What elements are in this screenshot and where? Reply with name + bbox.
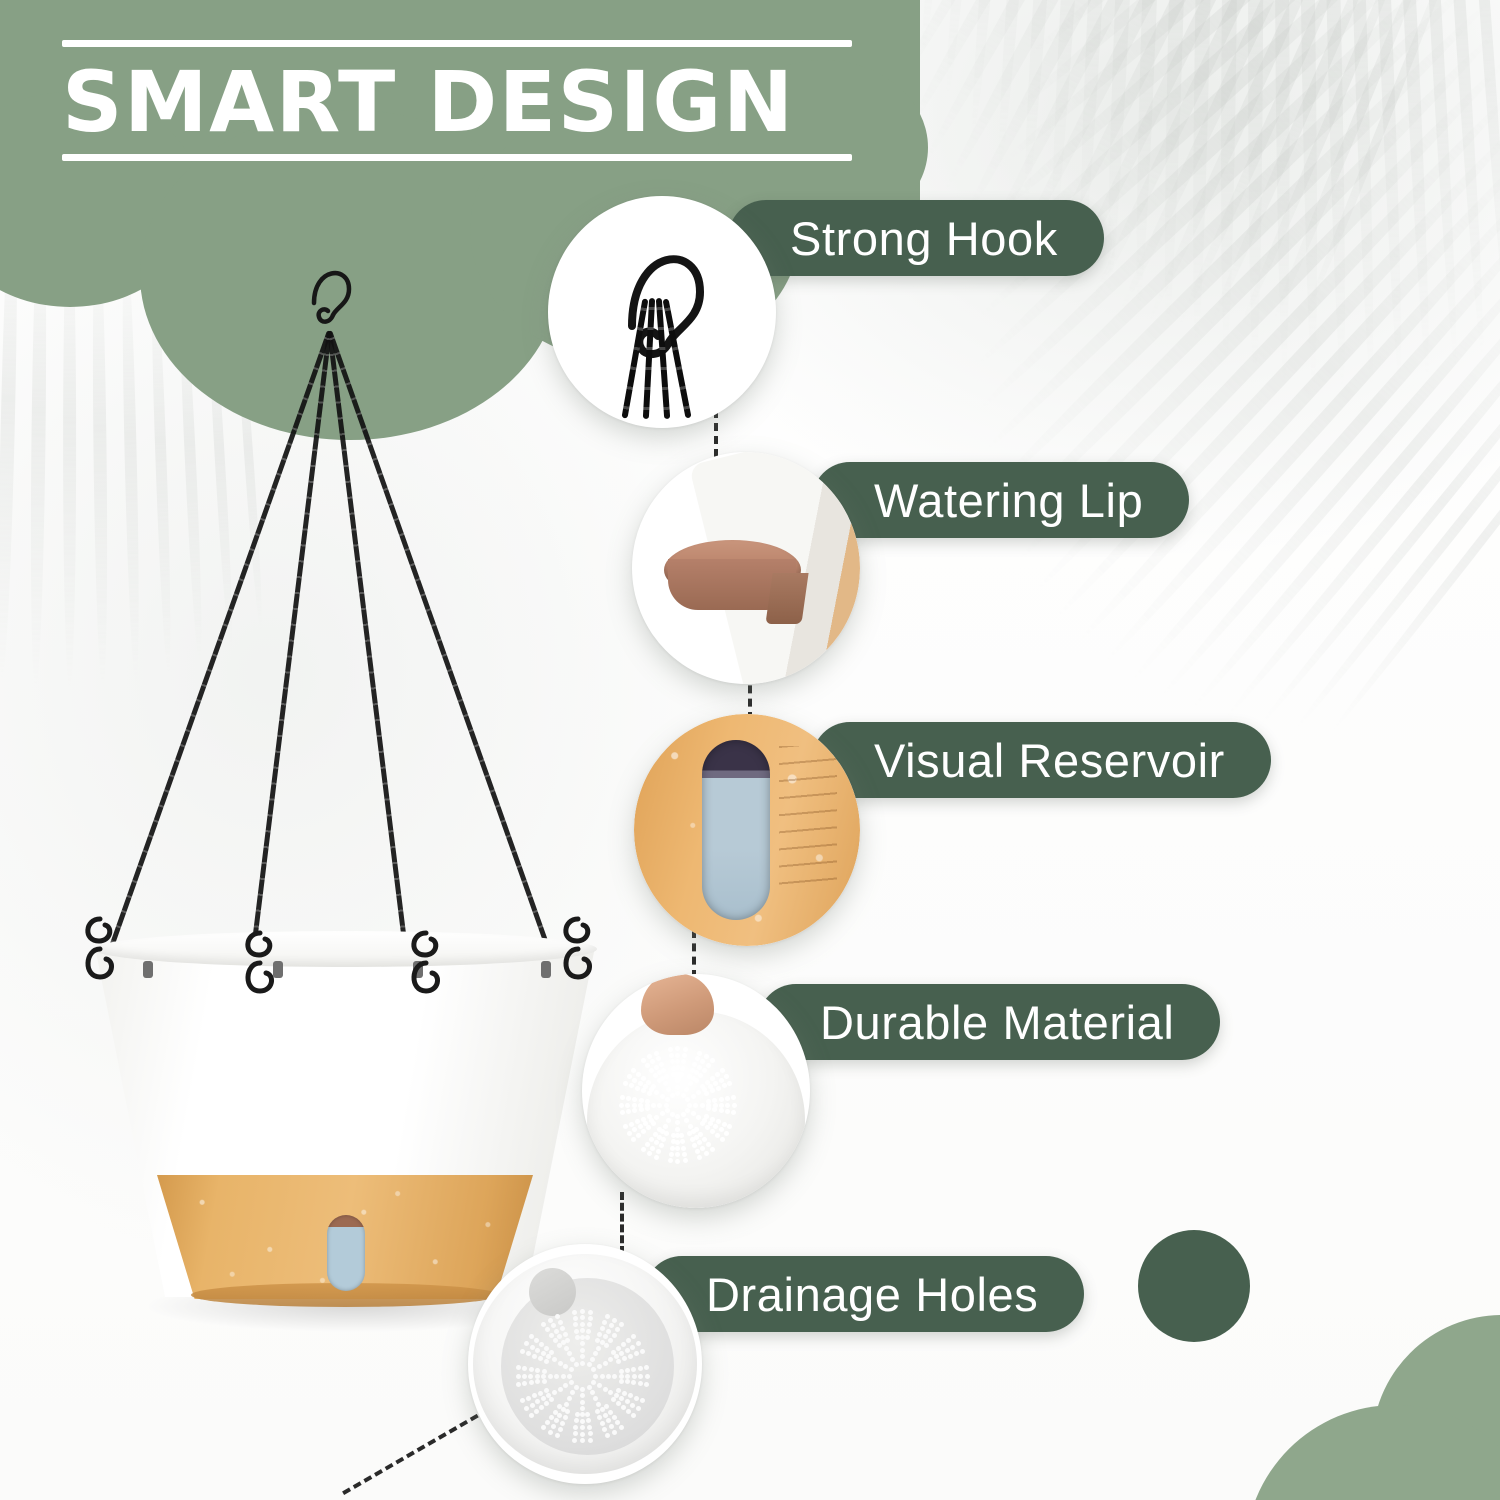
perforation-dot xyxy=(645,1063,650,1068)
perforation-dot xyxy=(588,1316,593,1321)
perforation-dot xyxy=(554,1329,559,1334)
perforation-dot xyxy=(661,1137,666,1142)
perforation-dot xyxy=(609,1424,614,1429)
perforation-dot xyxy=(580,1361,585,1366)
perforation-dot xyxy=(545,1420,550,1425)
perforation-dot xyxy=(710,1088,715,1093)
perforation-dot xyxy=(580,1315,585,1320)
perforation-dot xyxy=(575,1412,580,1417)
perforation-dot xyxy=(555,1314,560,1319)
planter-body xyxy=(95,947,595,1297)
perforation-dot xyxy=(570,1390,575,1395)
perforation-dot xyxy=(651,1121,656,1126)
callout-drainage-holes[interactable] xyxy=(468,1244,702,1484)
perforation-dot xyxy=(526,1351,531,1356)
perforation-dot xyxy=(553,1338,558,1343)
perforation-dot xyxy=(551,1424,556,1429)
perforation-dot xyxy=(626,1338,631,1343)
perforation-dot xyxy=(608,1410,613,1415)
perforation-dot xyxy=(612,1333,617,1338)
perforation-dot xyxy=(681,1146,686,1151)
perforation-dot xyxy=(622,1391,627,1396)
perforation-dot xyxy=(691,1094,696,1099)
perforation-dot xyxy=(548,1430,553,1435)
perforation-dot xyxy=(625,1374,630,1379)
perforation-dot xyxy=(629,1122,634,1127)
perforation-dot xyxy=(627,1131,632,1136)
perforation-dot xyxy=(719,1097,724,1102)
perforation-dot xyxy=(534,1409,539,1414)
perforation-dot xyxy=(670,1059,675,1064)
perforation-dot xyxy=(680,1066,685,1071)
perforation-dot xyxy=(580,1309,585,1314)
perforation-dot xyxy=(683,1047,688,1052)
perforation-dot xyxy=(558,1361,563,1366)
perforation-dot xyxy=(687,1131,692,1136)
perforation-dot xyxy=(516,1374,521,1379)
hand-squeezing-icon xyxy=(641,974,714,1035)
perforation-dot xyxy=(626,1109,631,1114)
perforation-dot xyxy=(698,1073,703,1078)
perforation-dot xyxy=(529,1413,534,1418)
perforation-dot xyxy=(696,1115,701,1120)
perforation-dot xyxy=(580,1419,585,1424)
perforation-dot xyxy=(532,1354,537,1359)
perforation-dot xyxy=(548,1374,553,1379)
perforation-dot xyxy=(609,1323,614,1328)
perforation-dot xyxy=(715,1072,720,1077)
perforation-dot xyxy=(549,1333,554,1338)
perforation-dot xyxy=(561,1374,566,1379)
perforation-dot xyxy=(635,1086,640,1091)
perforation-dot xyxy=(558,1427,563,1432)
perforation-dot xyxy=(694,1078,699,1083)
perforation-dot xyxy=(620,1110,625,1115)
perforation-dot xyxy=(631,1068,636,1073)
perforation-dot xyxy=(675,1159,680,1164)
perforation-dot xyxy=(530,1345,535,1350)
perforation-dot xyxy=(634,1351,639,1356)
perforation-dot xyxy=(710,1117,715,1122)
perforation-dot xyxy=(600,1421,605,1426)
reservoir-measure-marks xyxy=(779,746,838,890)
perforation-dot xyxy=(720,1068,725,1073)
perforation-dot xyxy=(653,1073,658,1078)
perforation-dot xyxy=(700,1059,705,1064)
perforation-dot xyxy=(679,1133,684,1138)
perforation-dot xyxy=(567,1351,572,1356)
perforation-dot xyxy=(702,1137,707,1142)
perforation-dot xyxy=(530,1403,535,1408)
perforation-dot xyxy=(731,1095,736,1100)
perforation-dot xyxy=(675,1046,680,1051)
perforation-dot xyxy=(675,1059,680,1064)
chain-4 xyxy=(327,330,552,954)
perforation-dot xyxy=(697,1051,702,1056)
perforation-dot xyxy=(646,1125,651,1130)
perforation-dot xyxy=(522,1366,527,1371)
perforation-dot xyxy=(664,1074,669,1079)
perforation-dot xyxy=(619,1351,624,1356)
rim-hole-right xyxy=(541,961,551,978)
perforation-dot xyxy=(638,1381,643,1386)
perforation-dot xyxy=(605,1314,610,1319)
perforation-dot xyxy=(634,1396,639,1401)
perforation-dot xyxy=(631,1413,636,1418)
perforation-dot xyxy=(644,1365,649,1370)
rim-s-hook-3 xyxy=(403,921,449,1013)
perforation-dot xyxy=(685,1108,690,1113)
perforation-dot xyxy=(664,1131,669,1136)
perforation-dot xyxy=(688,1081,693,1086)
perforation-dot xyxy=(660,1111,665,1116)
perforation-dot xyxy=(638,1374,643,1379)
perforation-dot xyxy=(675,1091,680,1096)
perforation-dot xyxy=(645,1374,650,1379)
chain-1 xyxy=(107,330,332,954)
perforation-dot xyxy=(597,1383,602,1388)
perforation-dot xyxy=(591,1367,596,1372)
title-rule-top xyxy=(62,40,852,47)
perforation-dot xyxy=(654,1155,659,1160)
perforation-dot xyxy=(580,1425,585,1430)
feature-label-durable-material: Durable Material xyxy=(820,995,1174,1050)
perforation-dot xyxy=(656,1056,661,1061)
perforation-dot xyxy=(608,1390,613,1395)
perforation-dot xyxy=(659,1143,664,1148)
perforation-dot xyxy=(580,1438,585,1443)
perforation-dot xyxy=(632,1108,637,1113)
perforation-dot xyxy=(603,1413,608,1418)
perforation-dot xyxy=(554,1418,559,1423)
perforation-dot xyxy=(722,1122,727,1127)
perforation-dot xyxy=(671,1066,676,1071)
perforation-dot xyxy=(570,1357,575,1362)
perforation-dot xyxy=(725,1096,730,1101)
perforation-dot xyxy=(696,1090,701,1095)
chain-3 xyxy=(327,331,410,967)
perforation-dot xyxy=(528,1374,533,1379)
feature-pill-durable-material[interactable]: Durable Material xyxy=(758,984,1220,1060)
perforation-dot xyxy=(563,1415,568,1420)
perforation-dot xyxy=(557,1343,562,1348)
perforation-dot xyxy=(600,1326,605,1331)
perforation-dot xyxy=(580,1341,585,1346)
callout-strong-hook[interactable] xyxy=(548,196,776,428)
perforation-dot xyxy=(574,1329,579,1334)
perforation-dot xyxy=(638,1081,643,1086)
callout-watering-lip[interactable] xyxy=(632,452,860,684)
perforation-dot xyxy=(706,1063,711,1068)
perforation-dot xyxy=(535,1379,540,1384)
perforation-pattern xyxy=(614,1040,742,1171)
perforation-dot xyxy=(595,1409,600,1414)
perforation-dot xyxy=(596,1402,601,1407)
perforation-dot xyxy=(535,1348,540,1353)
perforation-dot xyxy=(645,1142,650,1147)
perforation-dot xyxy=(558,1387,563,1392)
perforation-dot xyxy=(585,1335,590,1340)
perforation-dot xyxy=(659,1062,664,1067)
watering-lip-spout xyxy=(765,573,809,624)
perforation-dot xyxy=(640,1349,645,1354)
perforation-dot xyxy=(675,1078,680,1083)
perforation-dot xyxy=(653,1132,658,1137)
perforation-dot xyxy=(657,1127,662,1132)
perforation-dot xyxy=(720,1137,725,1142)
perforation-dot xyxy=(549,1397,554,1402)
perforation-dot xyxy=(654,1140,659,1145)
perforation-dot xyxy=(682,1152,687,1157)
perforation-dot xyxy=(580,1406,585,1411)
page-title: SMART DESIGN xyxy=(62,59,882,146)
perforation-dot xyxy=(587,1362,592,1367)
perforation-dot xyxy=(654,1051,659,1056)
perforation-dot xyxy=(705,1080,710,1085)
perforation-dot xyxy=(604,1343,609,1348)
perforation-dot xyxy=(687,1103,692,1108)
perforation-dot xyxy=(612,1415,617,1420)
perforation-dot xyxy=(544,1359,549,1364)
perforation-dot xyxy=(630,1403,635,1408)
perforation-dot xyxy=(663,1081,668,1086)
perforation-dot xyxy=(625,1379,630,1384)
perforation-dot xyxy=(725,1103,730,1108)
perforation-dot xyxy=(563,1383,568,1388)
perforation-dot xyxy=(612,1374,617,1379)
perforation-dot xyxy=(625,1399,630,1404)
perforation-dot xyxy=(704,1054,709,1059)
perforation-dot xyxy=(725,1109,730,1114)
perforation-dot xyxy=(563,1364,568,1369)
perforation-dot xyxy=(651,1084,656,1089)
perforation-dot xyxy=(587,1385,592,1390)
perforation-dot xyxy=(638,1366,643,1371)
drainage-perforation-pattern xyxy=(510,1302,655,1451)
perforation-dot xyxy=(706,1106,711,1111)
callout-drainage-holes-art xyxy=(468,1244,702,1484)
perforation-dot xyxy=(606,1374,611,1379)
perforation-dot xyxy=(710,1058,715,1063)
perforation-dot xyxy=(684,1087,689,1092)
perforation-dot xyxy=(603,1361,608,1366)
feature-label-watering-lip: Watering Lip xyxy=(874,473,1143,528)
perforation-dot xyxy=(621,1342,626,1347)
perforation-dot xyxy=(586,1329,591,1334)
perforation-dot xyxy=(679,1072,684,1077)
perforation-dot xyxy=(641,1117,646,1122)
perforation-dot xyxy=(597,1332,602,1337)
perforation-dot xyxy=(529,1367,534,1372)
perforation-dot xyxy=(567,1396,572,1401)
perforation-dot xyxy=(694,1127,699,1132)
perforation-dot xyxy=(668,1158,673,1163)
feature-pill-drainage-holes[interactable]: Drainage Holes xyxy=(644,1256,1084,1332)
perforation-dot xyxy=(529,1334,534,1339)
perforation-dot xyxy=(615,1420,620,1425)
perforation-dot xyxy=(619,1369,624,1374)
perforation-dot xyxy=(661,1068,666,1073)
perforation-dot xyxy=(702,1068,707,1073)
perforation-dot xyxy=(600,1374,605,1379)
perforation-dot xyxy=(619,1103,624,1108)
perforation-dot xyxy=(700,1121,705,1126)
perforation-dot xyxy=(719,1127,724,1132)
perforation-dot xyxy=(654,1090,659,1095)
perforation-dot xyxy=(524,1341,529,1346)
perforation-dot xyxy=(727,1124,732,1129)
feature-pill-watering-lip[interactable]: Watering Lip xyxy=(812,462,1189,538)
product-illustration xyxy=(55,245,635,1365)
perforation-dot xyxy=(580,1393,585,1398)
perforation-dot xyxy=(641,1058,646,1063)
perforation-dot xyxy=(560,1326,565,1331)
perforation-dot xyxy=(580,1328,585,1333)
perforation-dot xyxy=(629,1083,634,1088)
perforation-dot xyxy=(602,1320,607,1325)
perforation-dot xyxy=(541,1425,546,1430)
perforation-dot xyxy=(675,1120,680,1125)
perforation-dot xyxy=(619,1425,624,1430)
perforation-dot xyxy=(597,1415,602,1420)
perforation-dot xyxy=(657,1103,662,1108)
feature-pill-strong-hook[interactable]: Strong Hook xyxy=(728,200,1104,276)
perforation-dot xyxy=(675,1053,680,1058)
perforation-dot xyxy=(684,1118,689,1123)
perforation-dot xyxy=(520,1349,525,1354)
perforation-dot xyxy=(542,1369,547,1374)
perforation-dot xyxy=(691,1111,696,1116)
perforation-dot xyxy=(636,1341,641,1346)
perforation-dot xyxy=(552,1390,557,1395)
perforation-dot xyxy=(666,1087,671,1092)
perforation-dot xyxy=(732,1103,737,1108)
perforation-dot xyxy=(700,1103,705,1108)
perforation-dot xyxy=(619,1374,624,1379)
callout-visual-reservoir-art xyxy=(634,714,860,946)
perforation-dot xyxy=(554,1374,559,1379)
callout-watering-lip-art xyxy=(632,452,860,684)
perforation-dot xyxy=(682,1053,687,1058)
perforation-dot xyxy=(640,1398,645,1403)
perforation-dot xyxy=(680,1139,685,1144)
perforation-dot xyxy=(563,1332,568,1337)
perforation-dot xyxy=(616,1359,621,1364)
perforation-dot xyxy=(520,1398,525,1403)
perforation-dot xyxy=(719,1108,724,1113)
perforation-dot xyxy=(575,1335,580,1340)
perforation-dot xyxy=(604,1404,609,1409)
perforation-dot xyxy=(564,1402,569,1407)
perforation-dot xyxy=(628,1393,633,1398)
perforation-dot xyxy=(644,1382,649,1387)
planter-rim xyxy=(93,931,597,967)
perforation-dot xyxy=(623,1124,628,1129)
perforation-dot xyxy=(700,1146,705,1151)
perforation-dot xyxy=(611,1397,616,1402)
perforation-dot xyxy=(572,1438,577,1443)
perforation-dot xyxy=(596,1346,601,1351)
perforation-dot xyxy=(693,1103,698,1108)
perforation-dot xyxy=(632,1374,637,1379)
perforation-dot xyxy=(608,1338,613,1343)
perforation-dot xyxy=(549,1350,554,1355)
perforation-dot xyxy=(645,1099,650,1104)
perforation-dot xyxy=(697,1140,702,1145)
perforation-dot xyxy=(588,1310,593,1315)
perforation-dot xyxy=(593,1351,598,1356)
perforation-dot xyxy=(580,1322,585,1327)
perforation-dot xyxy=(692,1143,697,1148)
perforation-dot xyxy=(698,1132,703,1137)
perforation-dot xyxy=(595,1338,600,1343)
perforation-dot xyxy=(567,1374,572,1379)
callout-durable-material[interactable] xyxy=(582,974,810,1208)
perforation-dot xyxy=(631,1367,636,1372)
perforation-dot xyxy=(616,1388,621,1393)
perforation-dot xyxy=(627,1074,632,1079)
perforation-dot xyxy=(670,1112,675,1117)
perforation-dot xyxy=(574,1362,579,1367)
perforation-dot xyxy=(569,1380,574,1385)
perforation-dot xyxy=(636,1406,641,1411)
perforation-dot xyxy=(632,1097,637,1102)
perforation-dot xyxy=(641,1129,646,1134)
perforation-dot xyxy=(597,1364,602,1369)
perforation-dot xyxy=(675,1085,680,1090)
perforation-dot xyxy=(593,1396,598,1401)
perforation-dot xyxy=(631,1334,636,1339)
perforation-dot xyxy=(564,1346,569,1351)
perforation-dot xyxy=(654,1065,659,1070)
feature-pill-visual-reservoir[interactable]: Visual Reservoir xyxy=(812,722,1271,798)
perforation-dot xyxy=(619,1379,624,1384)
perforation-dot xyxy=(526,1396,531,1401)
perforation-dot xyxy=(605,1433,610,1438)
perforation-dot xyxy=(603,1387,608,1392)
perforation-dot xyxy=(690,1137,695,1142)
perforation-dot xyxy=(623,1081,628,1086)
perforation-dot xyxy=(650,1059,655,1064)
perforation-dot xyxy=(534,1338,539,1343)
perforation-dot xyxy=(580,1432,585,1437)
perforation-dot xyxy=(549,1415,554,1420)
feature-label-visual-reservoir: Visual Reservoir xyxy=(874,733,1225,788)
callout-visual-reservoir[interactable] xyxy=(634,714,860,946)
perforation-dot xyxy=(727,1081,732,1086)
perforation-dot xyxy=(532,1393,537,1398)
perforation-dot xyxy=(706,1099,711,1104)
perforation-dot xyxy=(651,1103,656,1108)
perforation-dot xyxy=(632,1078,637,1083)
perforation-dot xyxy=(548,1318,553,1323)
perforation-dot xyxy=(619,1396,624,1401)
perforation-dot xyxy=(558,1320,563,1325)
perforation-dot xyxy=(712,1107,717,1112)
perforation-dot xyxy=(628,1354,633,1359)
perforation-dot xyxy=(704,1091,709,1096)
perforation-dot xyxy=(719,1103,724,1108)
perforation-dot xyxy=(557,1334,562,1339)
perforation-dot xyxy=(590,1390,595,1395)
perforation-dot xyxy=(675,1114,680,1119)
perforation-dot xyxy=(641,1076,646,1081)
perforation-dot xyxy=(636,1133,641,1138)
perforation-dot xyxy=(716,1086,721,1091)
perforation-dot xyxy=(715,1133,720,1138)
perforation-dot xyxy=(666,1118,671,1123)
connector-material-to-drainage xyxy=(620,1192,624,1254)
